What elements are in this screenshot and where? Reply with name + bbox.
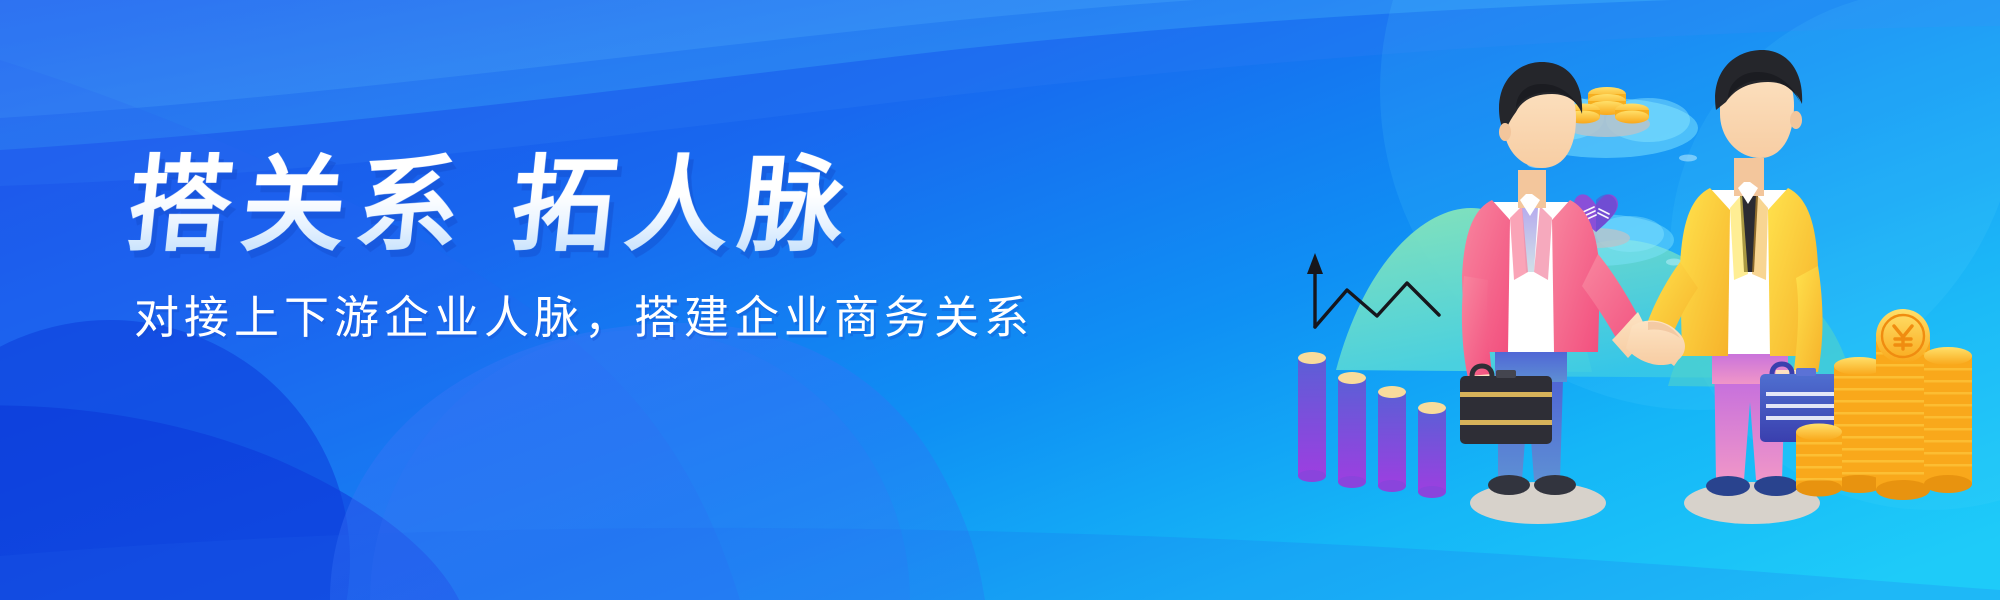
right-shoe [1754,476,1798,496]
black-briefcase [1460,366,1552,444]
left-shoe [1488,475,1530,495]
page-title: 搭关系拓人脉 [122,148,1040,264]
headline-part-1: 搭关系 [122,148,476,264]
trend-arrow-head-icon [1307,253,1323,274]
headline-part-2: 拓人脉 [506,148,860,264]
promo-banner: 搭关系拓人脉 对接上下游企业人脉，搭建企业商务关系 [0,0,2000,600]
right-shoe [1534,475,1576,495]
yen-coin-icon [1876,309,1930,363]
page-subtitle: 对接上下游企业人脉，搭建企业商务关系 [134,290,1034,346]
left-shoe [1706,476,1750,496]
bar-chart-cylinders [1298,352,1446,498]
copy-block: 搭关系拓人脉 对接上下游企业人脉，搭建企业商务关系 [128,148,1034,347]
handshake-illustration [1276,40,1976,580]
